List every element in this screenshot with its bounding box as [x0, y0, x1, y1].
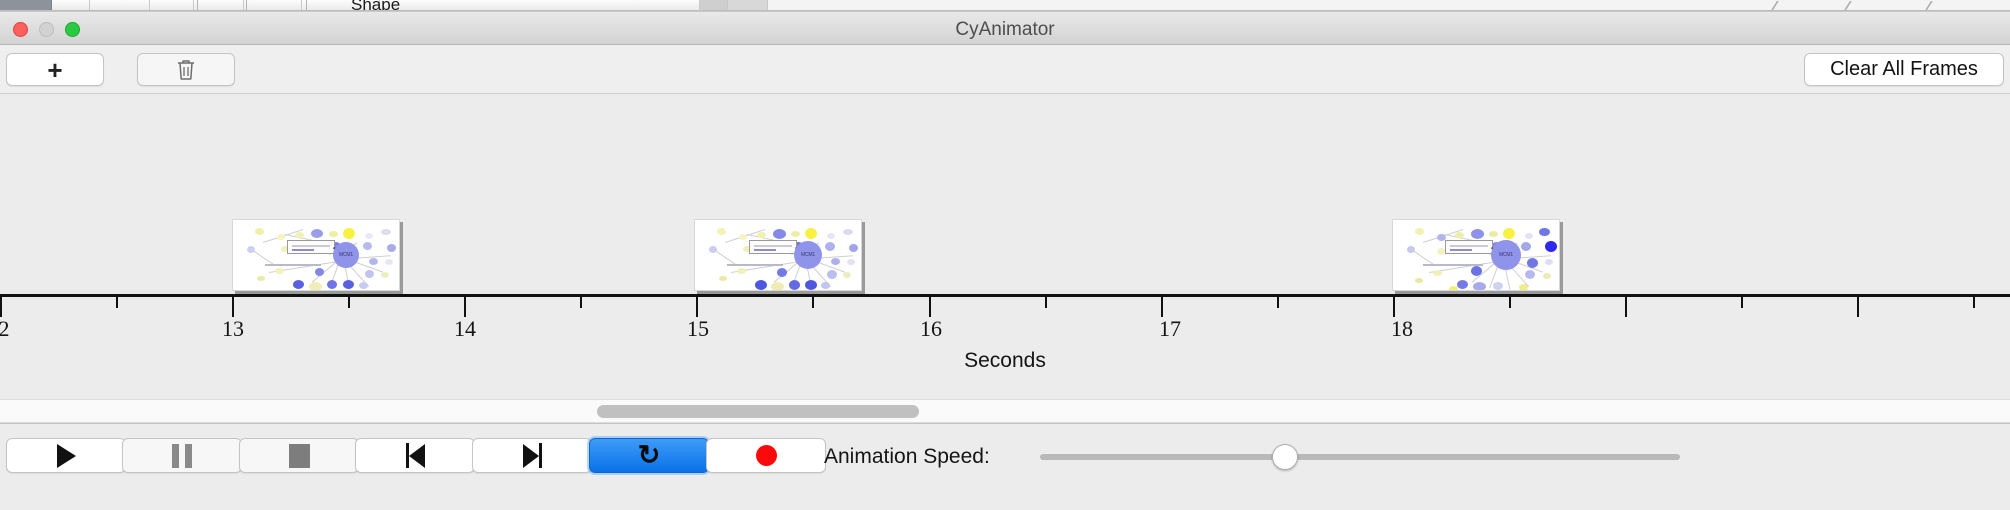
ruler-label: 13 [222, 316, 244, 342]
animation-speed-slider-thumb[interactable] [1272, 444, 1298, 470]
ruler-tick-major [929, 297, 931, 317]
ruler-baseline [0, 294, 2010, 297]
callout-box [749, 240, 797, 254]
scrollbar-thumb[interactable] [597, 405, 919, 418]
network-thumbnail: MCM1 [1393, 220, 1559, 290]
keyframe-thumbnail[interactable]: MCM1 [694, 219, 862, 291]
record-button[interactable] [706, 438, 826, 473]
ruler-tick-minor [1277, 297, 1279, 308]
ruler-tick-major [464, 297, 466, 317]
playback-controls: ↻ Animation Speed: [0, 423, 2010, 485]
ruler-tick-major [1393, 297, 1395, 317]
ruler-tick-minor [116, 297, 118, 308]
background-window-strip: Shape [0, 0, 2010, 11]
keyframe-thumbnail[interactable]: MCM1 [232, 219, 400, 291]
ruler-tick-minor [1509, 297, 1511, 308]
skip-next-icon [523, 443, 542, 468]
axis-title: Seconds [0, 349, 2010, 373]
cyanimator-screen: Shape CyAnimator + [0, 0, 2010, 510]
callout-box [1445, 240, 1493, 254]
ruler-tick-minor [1973, 297, 1975, 308]
loop-icon: ↻ [638, 442, 661, 469]
ruler-tick-minor [1045, 297, 1047, 308]
bg-segment [244, 0, 302, 11]
keyframe-thumbnail[interactable]: MCM1 [1392, 219, 1560, 291]
ruler-label: 14 [454, 316, 476, 342]
ruler-tick-minor [348, 297, 350, 308]
window-titlebar: CyAnimator [0, 12, 2010, 45]
background-window-label: Shape [351, 0, 400, 11]
network-thumbnail: MCM1 [233, 220, 399, 290]
timeline-scrollbar[interactable] [0, 399, 2010, 423]
ruler-tick-major [696, 297, 698, 317]
bg-segment [728, 0, 768, 11]
keyframes-area[interactable]: MCM1 [0, 94, 2010, 294]
ruler-label: 17 [1159, 316, 1181, 342]
stop-button[interactable] [239, 438, 359, 473]
ruler-label: 18 [1391, 316, 1413, 342]
pause-button[interactable] [122, 438, 242, 473]
skip-previous-button[interactable] [355, 438, 475, 473]
ruler-label: 15 [687, 316, 709, 342]
cyanimator-window: CyAnimator + Clear All Frames [0, 11, 2010, 510]
play-button[interactable] [6, 438, 126, 473]
ruler-tick-major [1857, 297, 1859, 317]
bg-segment [0, 0, 52, 11]
bg-segment [194, 0, 244, 11]
bg-segment [52, 0, 90, 11]
skip-next-button[interactable] [472, 438, 592, 473]
ruler-tick-major [0, 297, 2, 317]
ruler-tick-minor [1741, 297, 1743, 308]
hub-node: MCM1 [794, 241, 822, 269]
stop-icon [289, 444, 310, 468]
window-title: CyAnimator [0, 19, 2010, 41]
play-icon [57, 444, 76, 468]
callout-box [287, 240, 335, 254]
hub-node: MCM1 [333, 242, 359, 268]
skip-previous-icon [406, 443, 425, 468]
ruler-tick-minor [812, 297, 814, 308]
hub-node: MCM1 [1491, 240, 1521, 270]
bg-segment [90, 0, 150, 11]
frame-toolbar: + Clear All Frames [0, 45, 2010, 94]
timeline-ruler[interactable]: 2 13 14 15 16 17 18 Seconds [0, 294, 2010, 399]
add-frame-button[interactable]: + [6, 53, 104, 86]
record-icon [756, 445, 777, 466]
ruler-tick-major [232, 297, 234, 317]
clear-all-frames-button[interactable]: Clear All Frames [1804, 53, 2004, 86]
ruler-tick-major [1625, 297, 1627, 317]
animation-speed-label: Animation Speed: [824, 445, 990, 469]
animation-speed-slider[interactable] [1040, 454, 1680, 460]
bg-segment [150, 0, 194, 11]
ruler-tick-major [1161, 297, 1163, 317]
plus-icon: + [47, 57, 62, 83]
delete-frame-button[interactable] [137, 53, 235, 86]
bg-segment [700, 0, 728, 11]
pause-icon [172, 444, 192, 468]
network-thumbnail: MCM1 [695, 220, 861, 290]
timeline-panel[interactable]: MCM1 [0, 94, 2010, 399]
bg-segment [380, 0, 700, 11]
trash-icon [175, 58, 197, 82]
ruler-label: 2 [0, 316, 10, 342]
loop-button[interactable]: ↻ [589, 438, 709, 473]
ruler-label: 16 [920, 316, 942, 342]
ruler-tick-minor [580, 297, 582, 308]
